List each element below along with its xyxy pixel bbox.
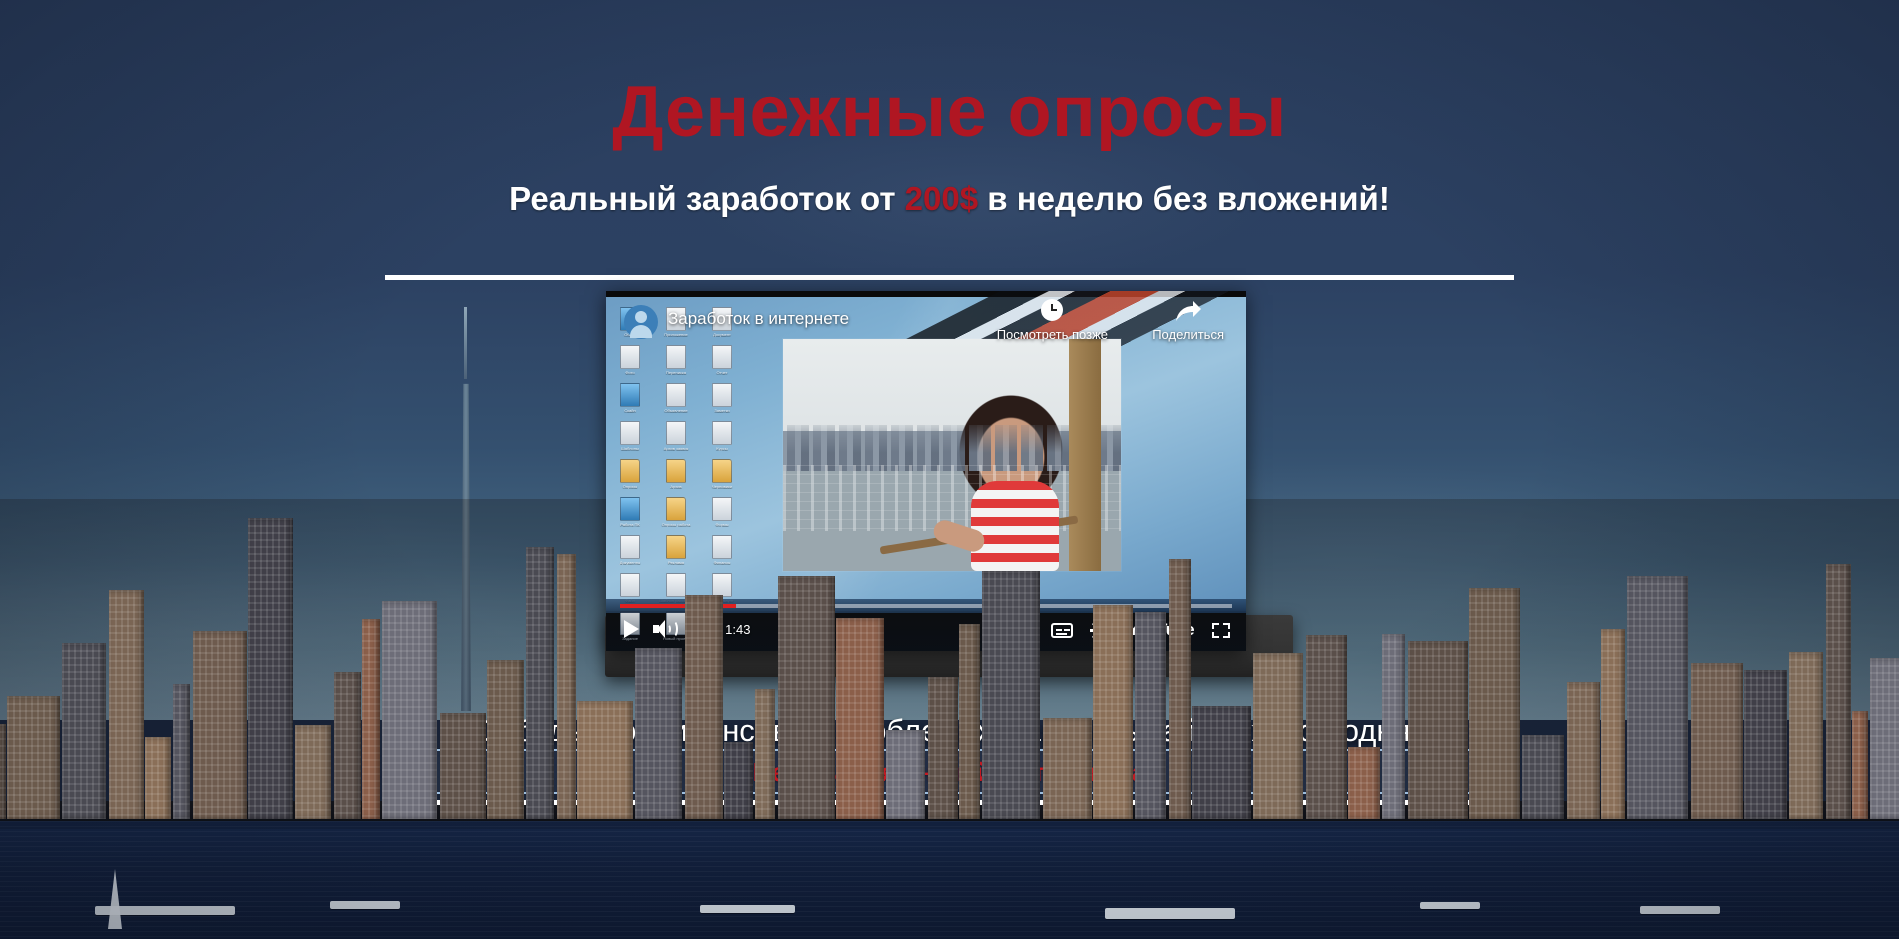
desktop-icon-glyph: [666, 383, 686, 407]
watch-later-button[interactable]: Посмотреть позже: [997, 299, 1108, 342]
desktop-icon-glyph: [620, 383, 640, 407]
share-button[interactable]: Поделиться: [1152, 299, 1224, 342]
building: [0, 724, 6, 819]
photo-person-torso: [971, 481, 1059, 571]
page-subtitle: Реальный заработок от 200$ в неделю без …: [0, 180, 1899, 218]
subtitle-suffix: в неделю без вложений!: [978, 180, 1390, 217]
building: [334, 672, 361, 819]
building: [778, 576, 835, 819]
building: [382, 601, 437, 819]
desktop-icon-glyph: [712, 383, 732, 407]
desktop-icon-label: Архив: [656, 484, 696, 489]
desktop-icon-glyph: [666, 535, 686, 559]
closed-captions-icon[interactable]: [1051, 623, 1073, 638]
building: [557, 554, 576, 819]
watch-later-label: Посмотреть позже: [997, 327, 1108, 342]
building: [1348, 747, 1380, 819]
building: [362, 619, 380, 819]
building: [1870, 658, 1899, 819]
desktop-icon: Финансы: [702, 535, 742, 565]
building: [487, 660, 524, 819]
desktop-icon-glyph: [620, 497, 640, 521]
building: [1601, 629, 1625, 819]
fullscreen-icon[interactable]: [1212, 623, 1230, 638]
desktop-icon-glyph: [620, 573, 640, 597]
desktop-icon: Опросы работа: [656, 497, 696, 527]
building: [1789, 652, 1823, 819]
desktop-icon: Архив заявок: [656, 421, 696, 451]
building: [1135, 612, 1166, 819]
desktop-icon-glyph: [666, 573, 686, 597]
desktop-icon: Курсы: [702, 421, 742, 451]
building: [755, 689, 775, 819]
desktop-icon-label: Работа ПК: [610, 522, 650, 527]
page-title: Денежные опросы: [0, 76, 1899, 148]
desktop-icon-glyph: [712, 459, 732, 483]
building: [145, 737, 171, 819]
building: [577, 701, 633, 819]
building: [109, 590, 144, 819]
building: [7, 696, 60, 819]
desktop-icon: Реклама: [656, 535, 696, 565]
building: [1826, 564, 1851, 819]
desktop-icon: Фото: [610, 345, 650, 375]
desktop-icon-glyph: [712, 535, 732, 559]
desktop-icon-label: Архив заявок: [656, 446, 696, 451]
desktop-icon: Черновики: [702, 459, 742, 489]
building: [1744, 670, 1787, 819]
building: [982, 571, 1040, 819]
building: [1253, 653, 1303, 819]
desktop-icon-label: Опросы: [610, 484, 650, 489]
desktop-icon-glyph: [666, 497, 686, 521]
share-arrow-icon: [1152, 299, 1224, 325]
building: [1852, 711, 1868, 819]
building: [1169, 559, 1191, 819]
building: [635, 648, 682, 819]
building: [724, 742, 753, 819]
volume-icon[interactable]: [653, 620, 675, 638]
desktop-icon: Отчет: [702, 345, 742, 375]
building: [1408, 641, 1468, 819]
desktop-icon-label: Заметки: [702, 408, 742, 413]
desktop-icon-label: Объявление: [656, 408, 696, 413]
desktop-icon-glyph: [620, 535, 640, 559]
desktop-icon-label: Черновики: [702, 484, 742, 489]
desktop-icon-glyph: [666, 421, 686, 445]
share-label: Поделиться: [1152, 327, 1224, 342]
building: [685, 595, 723, 819]
video-inner-photo: [783, 339, 1121, 571]
desktop-icon: Переписка: [656, 345, 696, 375]
building: [1567, 682, 1600, 819]
channel-avatar-icon[interactable]: [624, 305, 658, 339]
building: [1192, 706, 1251, 819]
desktop-icon-glyph: [712, 421, 732, 445]
desktop-icon: Формы: [702, 497, 742, 527]
building: [1306, 635, 1347, 819]
subtitle-amount: 200$: [905, 180, 978, 217]
desktop-icon-label: Шаблоны: [610, 446, 650, 451]
clock-icon: [997, 299, 1108, 325]
video-title-bar: Заработок в интернете: [616, 305, 1236, 349]
desktop-icon: Архив: [656, 459, 696, 489]
building: [526, 547, 554, 819]
photo-wooden-post: [1069, 339, 1101, 571]
building: [1469, 588, 1520, 819]
desktop-icon: Объявление: [656, 383, 696, 413]
subtitle-prefix: Реальный заработок от: [509, 180, 905, 217]
building: [62, 643, 106, 819]
desktop-icon: Документы: [610, 535, 650, 565]
desktop-icon-label: Опросы работа: [656, 522, 696, 527]
building: [440, 713, 486, 819]
desktop-icon: Шаблоны: [610, 421, 650, 451]
building: [886, 730, 925, 819]
desktop-icon: Заметки: [702, 383, 742, 413]
desktop-icon: Опросы: [610, 459, 650, 489]
desktop-icon-label: Отчет: [702, 370, 742, 375]
desktop-icon-label: Формы: [702, 522, 742, 527]
desktop-icon-label: Фото: [610, 370, 650, 375]
building: [193, 631, 247, 819]
building: [1382, 634, 1405, 819]
desktop-icon-label: Документы: [610, 560, 650, 565]
desktop-icon-glyph: [712, 497, 732, 521]
building: [928, 677, 958, 819]
desktop-icon-label: Скайп: [610, 408, 650, 413]
desktop-icon-glyph: [666, 459, 686, 483]
desktop-icon-glyph: [620, 459, 640, 483]
building: [173, 684, 190, 819]
building: [248, 518, 293, 819]
building: [1627, 576, 1688, 819]
play-icon[interactable]: [624, 620, 639, 638]
building: [836, 618, 884, 819]
desktop-icon-label: Финансы: [702, 560, 742, 565]
desktop-icon-label: Переписка: [656, 370, 696, 375]
desktop-icon-glyph: [712, 573, 732, 597]
building: [295, 725, 331, 819]
desktop-icon-label: Курсы: [702, 446, 742, 451]
building: [1522, 735, 1564, 819]
divider-top: [385, 275, 1514, 280]
desktop-icon-glyph: [620, 421, 640, 445]
building: [959, 624, 980, 819]
building: [1043, 718, 1092, 819]
video-title[interactable]: Заработок в интернете: [668, 309, 849, 329]
building: [1093, 605, 1133, 819]
desktop-icon: Работа ПК: [610, 497, 650, 527]
desktop-icon: Скайп: [610, 383, 650, 413]
building: [1691, 663, 1743, 819]
desktop-icon-label: Реклама: [656, 560, 696, 565]
